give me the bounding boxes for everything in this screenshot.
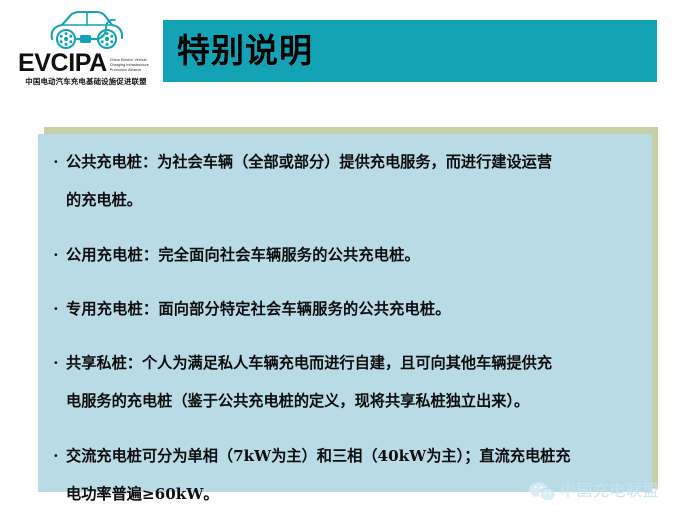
- watermark-text: 中国充电联盟: [560, 480, 659, 502]
- list-item-line: 交流充电桩可分为单相（7kW为主）和三相（40kW为主）；直流充电桩充: [66, 437, 644, 475]
- bullet-list: · 公共充电桩：为社会车辆（全部或部分）提供充电服务，而进行建设运营 的充电桩。…: [38, 134, 652, 492]
- electric-car-icon: [44, 8, 130, 52]
- evcipa-logo: EVCIPA China Electric Vehicle Charging I…: [14, 8, 156, 90]
- slide-canvas: EVCIPA China Electric Vehicle Charging I…: [0, 0, 700, 525]
- list-item-line: 电服务的充电桩（鉴于公共充电桩的定义，现将共享私桩独立出来）。: [66, 382, 644, 420]
- logo-acronym: EVCIPA: [18, 52, 107, 74]
- bullet-marker-icon: ·: [46, 236, 66, 274]
- list-item: · 专用充电桩：面向部分特定社会车辆服务的公共充电桩。: [46, 290, 644, 328]
- bullet-marker-icon: ·: [46, 437, 66, 475]
- content-box: · 公共充电桩：为社会车辆（全部或部分）提供充电服务，而进行建设运营 的充电桩。…: [38, 134, 652, 492]
- list-item-line: 共享私桩：个人为满足私人车辆充电而进行自建，且可向其他车辆提供充: [66, 344, 644, 382]
- logo-english-name: China Electric Vehicle Charging Infrastr…: [110, 58, 149, 73]
- wechat-icon: [528, 480, 556, 502]
- bullet-marker-icon: ·: [46, 290, 66, 328]
- list-item-line: 公用充电桩：完全面向社会车辆服务的公共充电桩。: [66, 236, 644, 274]
- title-band: 特别说明: [163, 20, 657, 82]
- list-item-line: 公共充电桩：为社会车辆（全部或部分）提供充电服务，而进行建设运营: [66, 143, 644, 181]
- logo-chinese-name: 中国电动汽车充电基础设施促进联盟: [20, 76, 152, 87]
- list-item-text: 专用充电桩：面向部分特定社会车辆服务的公共充电桩。: [66, 290, 644, 328]
- list-item-line: 专用充电桩：面向部分特定社会车辆服务的公共充电桩。: [66, 290, 644, 328]
- list-item: · 共享私桩：个人为满足私人车辆充电而进行自建，且可向其他车辆提供充 电服务的充…: [46, 344, 644, 420]
- list-item: · 公共充电桩：为社会车辆（全部或部分）提供充电服务，而进行建设运营 的充电桩。: [46, 143, 644, 219]
- list-item-text: 公共充电桩：为社会车辆（全部或部分）提供充电服务，而进行建设运营 的充电桩。: [66, 143, 644, 219]
- page-title: 特别说明: [177, 24, 313, 78]
- bullet-marker-icon: ·: [46, 143, 66, 181]
- logo-wordmark: EVCIPA China Electric Vehicle Charging I…: [18, 52, 152, 74]
- list-item-text: 共享私桩：个人为满足私人车辆充电而进行自建，且可向其他车辆提供充 电服务的充电桩…: [66, 344, 644, 420]
- bullet-marker-icon: ·: [46, 344, 66, 382]
- logo-english-line-3: Promotion Alliance: [110, 68, 149, 73]
- list-item-line: 的充电桩。: [66, 181, 644, 219]
- list-item-text: 公用充电桩：完全面向社会车辆服务的公共充电桩。: [66, 236, 644, 274]
- list-item: · 公用充电桩：完全面向社会车辆服务的公共充电桩。: [46, 236, 644, 274]
- watermark: 中国充电联盟: [528, 478, 692, 504]
